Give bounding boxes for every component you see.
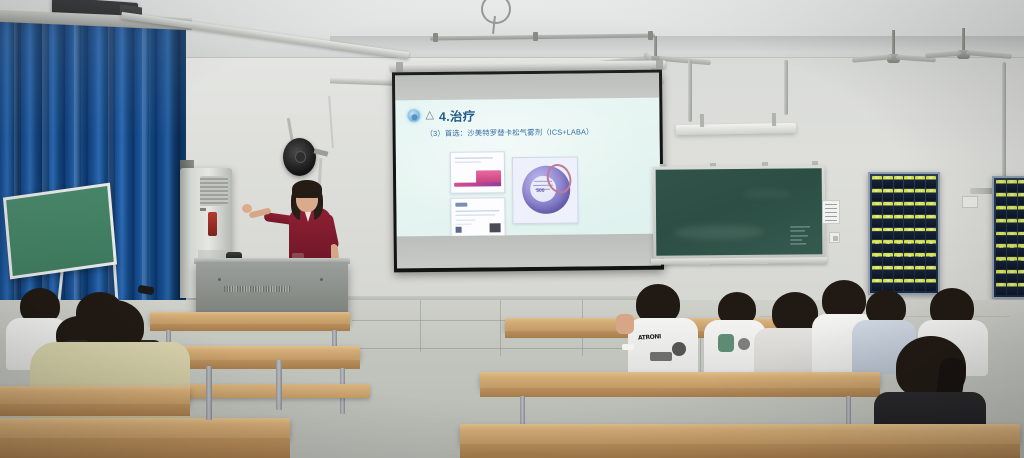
- pocket-number: 41: [915, 255, 925, 259]
- pocket-number: 51: [1018, 284, 1024, 288]
- pocket-slot: 19: [872, 215, 882, 227]
- blackboard-surface: [656, 168, 823, 255]
- pocket-slot: 01: [872, 176, 882, 188]
- pocket-number: 07: [872, 190, 882, 194]
- pipe-mount: [533, 32, 538, 41]
- ceiling-fan-rod: [962, 28, 965, 52]
- light-bracket: [700, 114, 704, 127]
- shirt-print-text: ATRONI: [638, 333, 661, 342]
- desk-front-panel: [0, 438, 290, 458]
- pocket-slot: 43: [996, 270, 1006, 282]
- pocket-slot: 03: [894, 176, 904, 188]
- qr-code-icon: [490, 223, 501, 232]
- desk-row-right-mid: [480, 372, 880, 388]
- pocket-number: 32: [1007, 246, 1017, 250]
- screen-bottom-band: [397, 234, 661, 269]
- pocket-number: 13: [872, 203, 882, 207]
- pocket-number: 40: [904, 255, 914, 259]
- pocket-number: 08: [1007, 194, 1017, 198]
- ac-display-panel[interactable]: [208, 212, 217, 236]
- pocket-slot: 52: [904, 279, 914, 291]
- pocket-slot: 21: [1018, 219, 1024, 231]
- pocket-slot: 37: [996, 257, 1006, 269]
- blue-circle-bullet-icon: [407, 109, 420, 122]
- pocket-slot: 46: [904, 266, 914, 278]
- desk-front-panel: [480, 388, 880, 397]
- pocket-number: 03: [894, 177, 904, 181]
- blackboard: [653, 165, 826, 258]
- pocket-slot: 47: [915, 266, 925, 278]
- pocket-slot: 41: [915, 253, 925, 265]
- pocket-slot: 13: [996, 206, 1006, 218]
- pocket-number: 21: [1018, 220, 1024, 224]
- pocket-slot: 50: [1007, 283, 1017, 295]
- pocket-number: 36: [926, 242, 936, 246]
- pocket-number: 26: [1007, 233, 1017, 237]
- pocket-slot: 09: [894, 189, 904, 201]
- pocket-number: 54: [926, 280, 936, 284]
- pocket-slot: 12: [926, 189, 936, 201]
- pocket-number: 50: [1007, 284, 1017, 288]
- slide-image-drug-leaflet: [450, 197, 505, 236]
- podium-vent-slots: [224, 286, 292, 292]
- ceiling-fan-rod: [892, 30, 895, 56]
- pocket-number: 47: [915, 267, 925, 271]
- pocket-number: 51: [894, 280, 904, 284]
- pocket-slot: 27: [894, 228, 904, 240]
- pocket-number: 37: [996, 259, 1006, 263]
- pocket-slot: 33: [894, 240, 904, 252]
- pocket-slot: 17: [915, 202, 925, 214]
- podium-screw: [218, 278, 221, 281]
- pocket-number: 33: [894, 242, 904, 246]
- pocket-number: 13: [996, 207, 1006, 211]
- wall-pipe: [688, 60, 692, 122]
- pocket-number: 27: [894, 229, 904, 233]
- pocket-slot: 36: [926, 240, 936, 252]
- pocket-number: 43: [996, 271, 1006, 275]
- pocket-slot: 13: [872, 202, 882, 214]
- wall-switch[interactable]: [829, 232, 840, 243]
- screen-clip: [396, 62, 403, 72]
- desk-row-left-front: [0, 386, 190, 404]
- pipe-mount: [648, 31, 653, 40]
- classroom-scene: △ 4.治疗 （3）首选：沙美特罗替卡松气雾剂（ICS+LABA）: [0, 0, 1024, 458]
- portable-green-board: [3, 183, 117, 280]
- pocket-slot: 08: [1007, 193, 1017, 205]
- pocket-number: 02: [1007, 181, 1017, 185]
- pocket-slot: 38: [883, 253, 893, 265]
- pocket-slot: 22: [904, 215, 914, 227]
- presenter-hair-top: [292, 180, 322, 198]
- pocket-slot: 31: [996, 244, 1006, 256]
- pocket-slot: 43: [872, 266, 882, 278]
- light-bracket: [772, 113, 776, 126]
- pocket-slot: 07: [996, 193, 1006, 205]
- pocket-slot: 21: [894, 215, 904, 227]
- inhaler-dose-value: 500: [536, 188, 544, 194]
- pocket-number: 44: [1007, 271, 1017, 275]
- pocket-slot: 45: [894, 266, 904, 278]
- desk-row-left-back: [150, 312, 350, 324]
- pocket-slot: 20: [1007, 219, 1017, 231]
- pocket-number: 26: [883, 229, 893, 233]
- pocket-slot: 37: [872, 253, 882, 265]
- pocket-slot: 54: [926, 279, 936, 291]
- pocket-slot: 05: [915, 176, 925, 188]
- pocket-number: 14: [883, 203, 893, 207]
- desk-leg: [206, 366, 212, 420]
- pocket-number: 09: [894, 190, 904, 194]
- pocket-number: 38: [1007, 259, 1017, 263]
- pocket-number: 49: [996, 284, 1006, 288]
- ceiling-fan-rod: [654, 36, 657, 58]
- chalk-writing: [790, 224, 812, 246]
- pocket-slot: 49: [996, 283, 1006, 295]
- pocket-number: 28: [904, 229, 914, 233]
- pocket-slot: 20: [883, 215, 893, 227]
- pocket-number: 19: [996, 220, 1006, 224]
- pocket-number: 20: [1007, 220, 1017, 224]
- pocket-number: 49: [872, 280, 882, 284]
- pocket-slot: 35: [915, 240, 925, 252]
- slide-title-row: △ 4.治疗: [407, 106, 475, 126]
- pocket-slot: 26: [1007, 232, 1017, 244]
- fluorescent-light-tube: [676, 123, 796, 135]
- desk-leg: [276, 360, 282, 410]
- pocket-number: 25: [996, 233, 1006, 237]
- pocket-slot: 51: [894, 279, 904, 291]
- pocket-number: 03: [1018, 181, 1024, 185]
- pocket-number: 44: [883, 267, 893, 271]
- screen-top-band: [395, 73, 659, 101]
- slide-title: 4.治疗: [439, 106, 476, 125]
- projected-slide: △ 4.治疗 （3）首选：沙美特罗替卡松气雾剂（ICS+LABA）: [395, 98, 660, 237]
- pocket-number: 15: [1018, 207, 1024, 211]
- pocket-slot: 39: [1018, 257, 1024, 269]
- pocket-slot: 23: [915, 215, 925, 227]
- pocket-slot: 31: [872, 240, 882, 252]
- screen-clip: [656, 60, 663, 70]
- student-hand-on-face: [616, 314, 634, 334]
- pocket-number: 53: [915, 280, 925, 284]
- pocket-number: 23: [915, 216, 925, 220]
- pocket-number: 05: [915, 177, 925, 181]
- student-body: ATRONI: [628, 318, 698, 380]
- pocket-slot: 40: [904, 253, 914, 265]
- pocket-slot: 02: [1007, 180, 1017, 192]
- pocket-slot: 26: [883, 228, 893, 240]
- pocket-slot: 14: [1007, 206, 1017, 218]
- desk-front-panel: [0, 404, 190, 416]
- pocket-slot: 49: [872, 279, 882, 291]
- pocket-slot: 53: [915, 279, 925, 291]
- pocket-number: 11: [915, 190, 925, 194]
- pocket-slot: 39: [894, 253, 904, 265]
- slide-image-drug-box: [450, 151, 505, 194]
- podium-screw: [320, 278, 323, 281]
- pocket-number: 16: [904, 203, 914, 207]
- pocket-number: 52: [904, 280, 914, 284]
- pocket-number: 07: [996, 194, 1006, 198]
- pocket-number: 25: [872, 229, 882, 233]
- caret-up-icon: △: [425, 110, 434, 121]
- pocket-slot: 15: [894, 202, 904, 214]
- pocket-slot: 51: [1018, 283, 1024, 295]
- pocket-number: 46: [904, 267, 914, 271]
- pocket-number: 19: [872, 216, 882, 220]
- slide-subtitle: （3）首选：沙美特罗替卡松气雾剂（ICS+LABA）: [426, 126, 594, 139]
- pocket-slot: 02: [883, 176, 893, 188]
- pocket-number: 01: [996, 181, 1006, 185]
- desk-row-right-front: [460, 424, 1020, 444]
- projection-screen-surface: △ 4.治疗 （3）首选：沙美特罗替卡松气雾剂（ICS+LABA）: [395, 73, 661, 269]
- pocket-slot: 45: [1018, 270, 1024, 282]
- presenter-hand-left: [242, 204, 252, 213]
- pocket-number: 10: [904, 190, 914, 194]
- pocket-slot: 44: [1007, 270, 1017, 282]
- phone-pocket-chart-left: 0102030405060708091011121314151617181920…: [868, 172, 940, 295]
- pocket-number: 15: [894, 203, 904, 207]
- pocket-number: 20: [883, 216, 893, 220]
- pocket-number: 18: [926, 203, 936, 207]
- pocket-number: 38: [883, 255, 893, 259]
- wall-fan-hub: [295, 151, 306, 163]
- pocket-number: 22: [904, 216, 914, 220]
- pocket-number: 31: [872, 242, 882, 246]
- wall-outlet-box: [962, 196, 978, 208]
- pocket-number: 34: [904, 242, 914, 246]
- pocket-slot: 25: [872, 228, 882, 240]
- pocket-number: 21: [894, 216, 904, 220]
- desk-foreground-left: [0, 418, 290, 438]
- pocket-slot: 09: [1018, 193, 1024, 205]
- pocket-slot: 44: [883, 266, 893, 278]
- pocket-number: 35: [915, 242, 925, 246]
- pocket-number: 32: [883, 242, 893, 246]
- pocket-number: 30: [926, 229, 936, 233]
- pocket-slot: 28: [904, 228, 914, 240]
- pocket-number: 42: [926, 255, 936, 259]
- wall-notice-sheet: [822, 200, 840, 224]
- pocket-slot: 33: [1018, 244, 1024, 256]
- pocket-number: 01: [872, 177, 882, 181]
- pipe-mount: [433, 33, 438, 42]
- pocket-number: 37: [872, 255, 882, 259]
- pocket-slot: 15: [1018, 206, 1024, 218]
- pocket-number: 08: [883, 190, 893, 194]
- pocket-number: 12: [926, 190, 936, 194]
- desk-front-panel: [460, 444, 1020, 458]
- wall-pipe: [1002, 62, 1006, 192]
- pocket-slot: 01: [996, 180, 1006, 192]
- pocket-number: 48: [926, 267, 936, 271]
- pocket-number: 24: [926, 216, 936, 220]
- pocket-number: 14: [1007, 207, 1017, 211]
- pocket-slot: 27: [1018, 232, 1024, 244]
- phone-pocket-chart-right: 0102030405060708091011121314151617181920…: [992, 176, 1024, 299]
- projection-screen: △ 4.治疗 （3）首选：沙美特罗替卡松气雾剂（ICS+LABA）: [392, 70, 664, 273]
- pocket-slot: 19: [996, 219, 1006, 231]
- pocket-slot: 18: [926, 202, 936, 214]
- pocket-slot: 29: [915, 228, 925, 240]
- pocket-slot: 04: [904, 176, 914, 188]
- ac-brand-logo: [200, 208, 206, 211]
- pocket-number: 02: [883, 177, 893, 181]
- pocket-slot: 06: [926, 176, 936, 188]
- ac-vent-grille: [200, 176, 228, 206]
- pocket-number: 33: [1018, 246, 1024, 250]
- pocket-number: 50: [883, 280, 893, 284]
- pocket-number: 04: [904, 177, 914, 181]
- pocket-slot: 11: [915, 189, 925, 201]
- drug-box-base: [454, 182, 501, 186]
- pocket-number: 06: [926, 177, 936, 181]
- pocket-slot: 10: [904, 189, 914, 201]
- pocket-slot: 16: [904, 202, 914, 214]
- pocket-slot: 25: [996, 232, 1006, 244]
- pocket-number: 39: [1018, 259, 1024, 263]
- pocket-number: 31: [996, 246, 1006, 250]
- pocket-slot: 42: [926, 253, 936, 265]
- pocket-number: 09: [1018, 194, 1024, 198]
- pocket-number: 39: [894, 255, 904, 259]
- pocket-slot: 03: [1018, 180, 1024, 192]
- pocket-number: 29: [915, 229, 925, 233]
- pocket-number: 45: [894, 267, 904, 271]
- slide-image-inhaler-disc: 500: [512, 156, 579, 224]
- pocket-slot: 32: [883, 240, 893, 252]
- pocket-number: 17: [915, 203, 925, 207]
- pocket-slot: 48: [926, 266, 936, 278]
- desk-item-eraser: [622, 344, 634, 350]
- wall-pipe: [784, 60, 788, 115]
- desk-front-panel: [150, 324, 350, 331]
- pocket-slot: 08: [883, 189, 893, 201]
- pocket-slot: 32: [1007, 244, 1017, 256]
- pocket-slot: 24: [926, 215, 936, 227]
- pocket-slot: 30: [926, 228, 936, 240]
- pocket-slot: 14: [883, 202, 893, 214]
- pocket-number: 45: [1018, 271, 1024, 275]
- pocket-number: 27: [1018, 233, 1024, 237]
- pocket-number: 43: [872, 267, 882, 271]
- pocket-slot: 38: [1007, 257, 1017, 269]
- pocket-slot: 07: [872, 189, 882, 201]
- pocket-slot: 34: [904, 240, 914, 252]
